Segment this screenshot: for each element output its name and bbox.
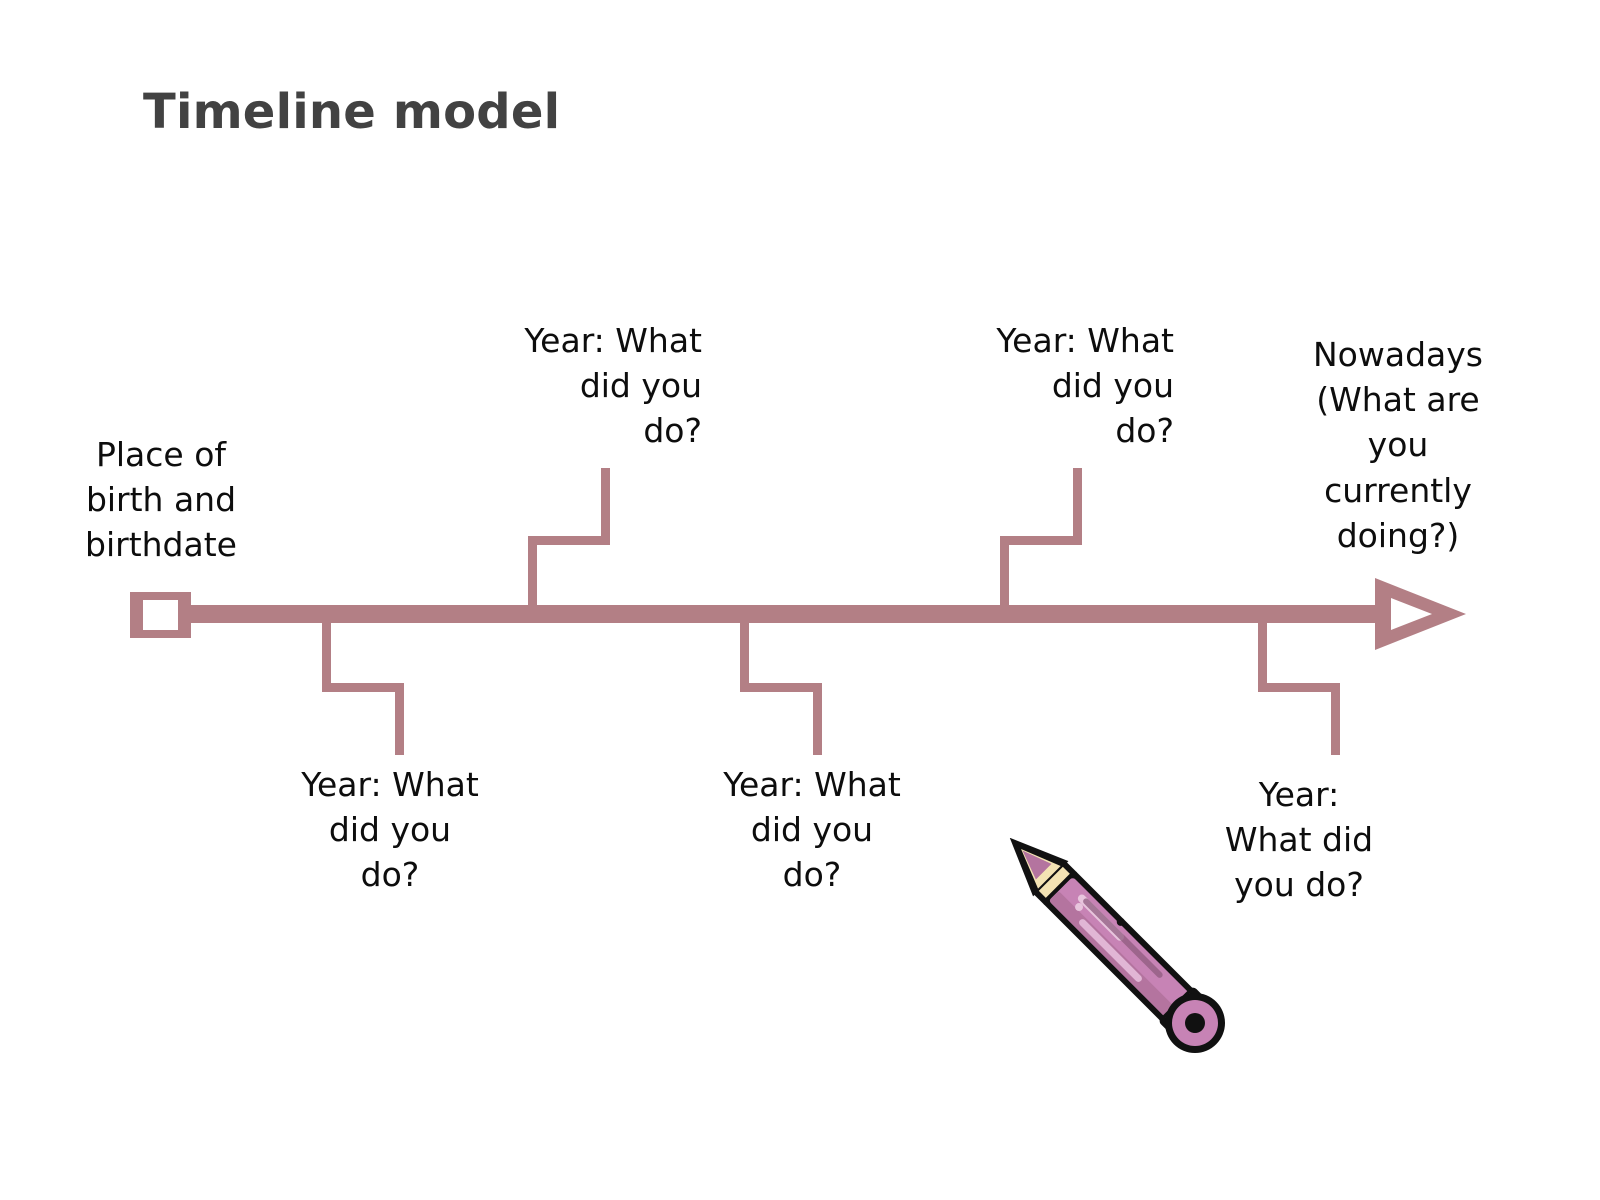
label-line: do? bbox=[452, 408, 702, 453]
label-line: did you bbox=[282, 807, 498, 852]
label-milestone-above-2: Year: What did you do? bbox=[930, 318, 1174, 454]
label-line: Year: bbox=[1210, 772, 1388, 817]
label-line: doing?) bbox=[1294, 513, 1502, 558]
label-line: Year: What bbox=[282, 762, 498, 807]
connector-down-1 bbox=[322, 620, 404, 755]
label-line: Nowadays bbox=[1294, 332, 1502, 377]
label-line: you bbox=[1294, 422, 1502, 467]
label-line: did you bbox=[706, 807, 918, 852]
connector-up-1 bbox=[528, 468, 610, 608]
label-line: do? bbox=[282, 852, 498, 897]
timeline-start-marker bbox=[130, 592, 191, 638]
label-line: do? bbox=[930, 408, 1174, 453]
label-milestone-below-2: Year: What did you do? bbox=[706, 762, 918, 898]
label-line: did you bbox=[930, 363, 1174, 408]
slide-canvas: Timeline model bbox=[0, 0, 1600, 1200]
pencil-icon bbox=[1000, 838, 1250, 1068]
connector-down-3 bbox=[1258, 620, 1340, 755]
label-line: birthdate bbox=[52, 522, 270, 567]
label-line: do? bbox=[706, 852, 918, 897]
timeline-graphic bbox=[0, 0, 1600, 1200]
label-line: Place of bbox=[52, 432, 270, 477]
label-line: did you bbox=[452, 363, 702, 408]
label-milestone-nowadays: Nowadays (What are you currently doing?) bbox=[1294, 332, 1502, 558]
label-milestone-above-1: Year: What did you do? bbox=[452, 318, 702, 454]
label-place-of-birth: Place of birth and birthdate bbox=[52, 432, 270, 568]
label-line: Year: What bbox=[930, 318, 1174, 363]
label-milestone-below-1: Year: What did you do? bbox=[282, 762, 498, 898]
connector-up-2 bbox=[1000, 468, 1082, 608]
label-line: Year: What bbox=[452, 318, 702, 363]
label-line: (What are bbox=[1294, 377, 1502, 422]
timeline-end-arrow bbox=[1375, 578, 1466, 650]
connector-down-2 bbox=[740, 620, 822, 755]
timeline-axis-bar bbox=[160, 605, 1375, 623]
label-line: currently bbox=[1294, 468, 1502, 513]
label-line: Year: What bbox=[706, 762, 918, 807]
label-line: birth and bbox=[52, 477, 270, 522]
